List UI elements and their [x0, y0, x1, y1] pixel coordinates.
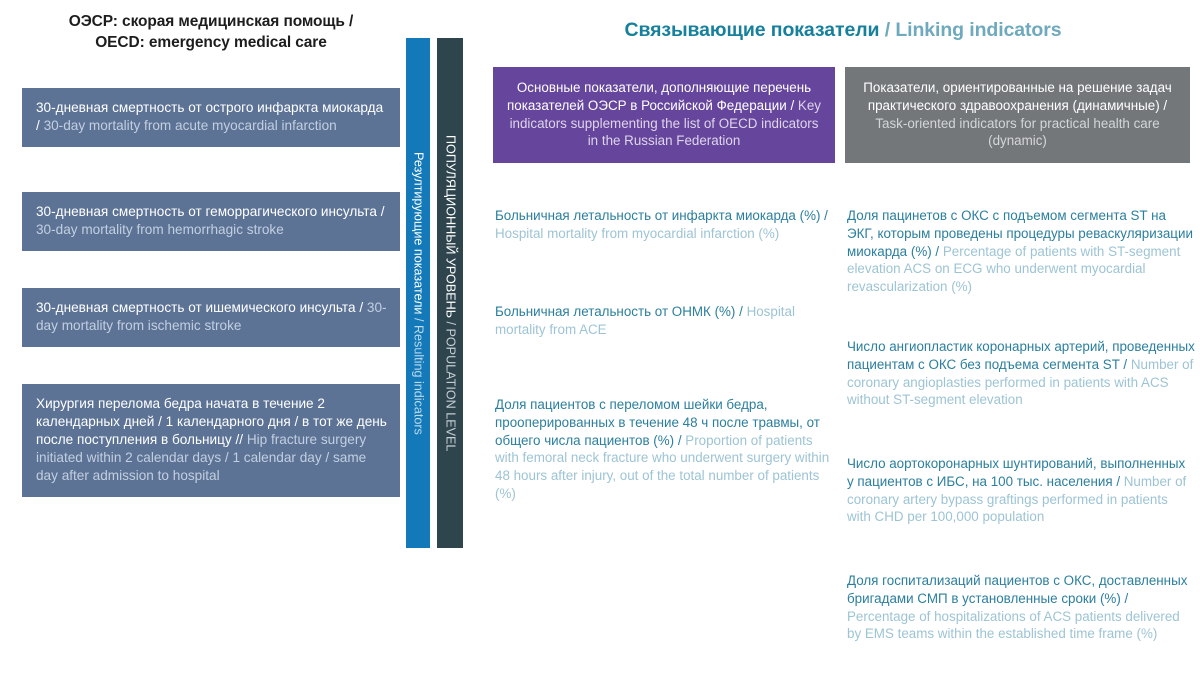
vertical-bar-population-en: POPULATION LEVEL: [443, 328, 457, 451]
task-indicator-item-2[interactable]: Число ангиопластик коронарных артерий, п…: [847, 338, 1195, 409]
vertical-bar-resulting-indicators[interactable]: Резултирующие показатели / Resulting ind…: [406, 38, 430, 548]
left-column-title-ru: ОЭСР: скорая медицинская помощь /: [22, 12, 400, 33]
oecd-indicator-2-ru: 30-дневная смертность от геморрагическог…: [36, 204, 384, 219]
oecd-indicator-1-en: 30-day mortality from acute myocardial i…: [44, 118, 337, 133]
vertical-bar-resulting-en: Resulting indicators: [411, 325, 425, 435]
key-indicator-1-en: Hospital mortality from myocardial infar…: [495, 226, 779, 241]
left-column-title-en: OECD: emergency medical care: [22, 33, 400, 54]
vertical-bar-resulting-label: Резултирующие показатели / Resulting ind…: [412, 152, 425, 435]
diagram-canvas: ОЭСР: скорая медицинская помощь / OECD: …: [0, 0, 1200, 700]
linking-indicators-heading: Связывающие показатели / Linking indicat…: [493, 19, 1193, 42]
vertical-bar-population-label: ПОПУЛЯЦИОННЫЙ УРОВЕНЬ / POPULATION LEVEL: [444, 135, 457, 451]
task-indicator-4-en: Percentage of hospitalizations of ACS pa…: [847, 609, 1180, 642]
key-indicator-2-ru: Больничная летальность от ОНМК (%) /: [495, 304, 747, 319]
linking-heading-ru: Связывающие показатели: [625, 19, 880, 41]
oecd-indicator-box-2[interactable]: 30-дневная смертность от геморрагическог…: [22, 192, 400, 251]
oecd-indicator-box-4[interactable]: Хирургия перелома бедра начата в течение…: [22, 384, 400, 497]
oecd-indicator-box-3[interactable]: 30-дневная смертность от ишемического ин…: [22, 288, 400, 347]
oecd-indicator-2-en: 30-day mortality from hemorrhagic stroke: [36, 222, 284, 237]
key-indicator-1-ru: Больничная летальность от инфаркта миока…: [495, 208, 828, 223]
task-indicator-item-1[interactable]: Доля пацинетов с ОКС с подъемом сегмента…: [847, 207, 1195, 296]
vertical-bar-population-level[interactable]: ПОПУЛЯЦИОННЫЙ УРОВЕНЬ / POPULATION LEVEL: [437, 38, 463, 548]
gray-column-header-ru: Показатели, ориентированные на решение з…: [863, 80, 1171, 113]
key-indicator-item-3[interactable]: Доля пациентов с переломом шейки бедра, …: [495, 396, 839, 503]
task-indicator-4-ru: Доля госпитализаций пациентов с ОКС, дос…: [847, 573, 1187, 606]
vertical-bar-resulting-ru: Резултирующие показатели: [411, 152, 425, 314]
purple-column-header[interactable]: Основные показатели, дополняющие перечен…: [493, 67, 835, 163]
vertical-bar-population-sep: /: [443, 318, 457, 329]
oecd-indicator-box-1[interactable]: 30-дневная смертность от острого инфаркт…: [22, 88, 400, 147]
key-indicator-item-1[interactable]: Больничная летальность от инфаркта миока…: [495, 207, 839, 243]
vertical-bar-population-ru: ПОПУЛЯЦИОННЫЙ УРОВЕНЬ: [443, 135, 457, 318]
vertical-bar-resulting-sep: /: [411, 314, 425, 325]
purple-column-header-ru: Основные показатели, дополняющие перечен…: [507, 80, 811, 113]
oecd-indicator-3-ru: 30-дневная смертность от ишемического ин…: [36, 300, 367, 315]
task-indicator-item-4[interactable]: Доля госпитализаций пациентов с ОКС, дос…: [847, 572, 1195, 643]
gray-column-header-en: Task-oriented indicators for practical h…: [875, 116, 1159, 149]
task-indicator-item-3[interactable]: Число аортокоронарных шунтирований, выпо…: [847, 455, 1195, 526]
left-column-title: ОЭСР: скорая медицинская помощь / OECD: …: [22, 12, 400, 54]
gray-column-header[interactable]: Показатели, ориентированные на решение з…: [845, 67, 1190, 163]
key-indicator-item-2[interactable]: Больничная летальность от ОНМК (%) / Hos…: [495, 303, 839, 339]
linking-heading-en: Linking indicators: [895, 19, 1061, 41]
linking-heading-sep: /: [879, 19, 895, 41]
